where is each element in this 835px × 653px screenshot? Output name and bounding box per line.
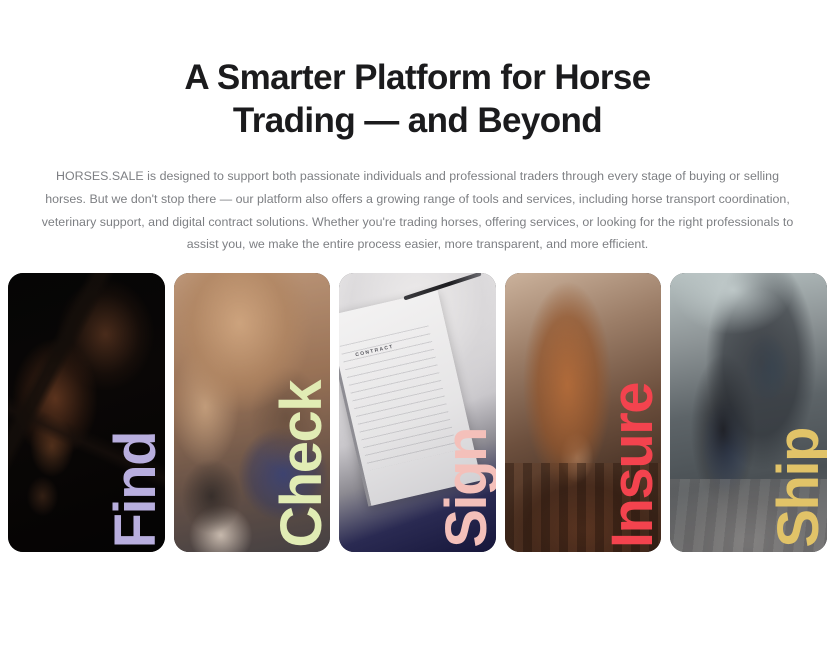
service-card-find[interactable]: Find: [8, 273, 165, 552]
service-card-ship[interactable]: Ship: [670, 273, 827, 552]
service-card-row: Find Check CONTRACT Sign Insure Ship: [8, 273, 827, 552]
page-title: A Smarter Platform for Horse Trading — a…: [138, 0, 698, 142]
service-card-label-find: Find: [109, 432, 162, 548]
service-card-sign[interactable]: CONTRACT Sign: [339, 273, 496, 552]
service-card-label-insure: Insure: [606, 383, 659, 548]
service-card-label-sign: Sign: [440, 428, 493, 548]
hero-description: HORSES.SALE is designed to support both …: [38, 142, 798, 255]
service-card-check[interactable]: Check: [174, 273, 331, 552]
service-card-label-check: Check: [275, 381, 328, 548]
page-root: A Smarter Platform for Horse Trading — a…: [0, 0, 835, 653]
service-card-insure[interactable]: Insure: [505, 273, 662, 552]
service-card-label-ship: Ship: [772, 428, 825, 548]
